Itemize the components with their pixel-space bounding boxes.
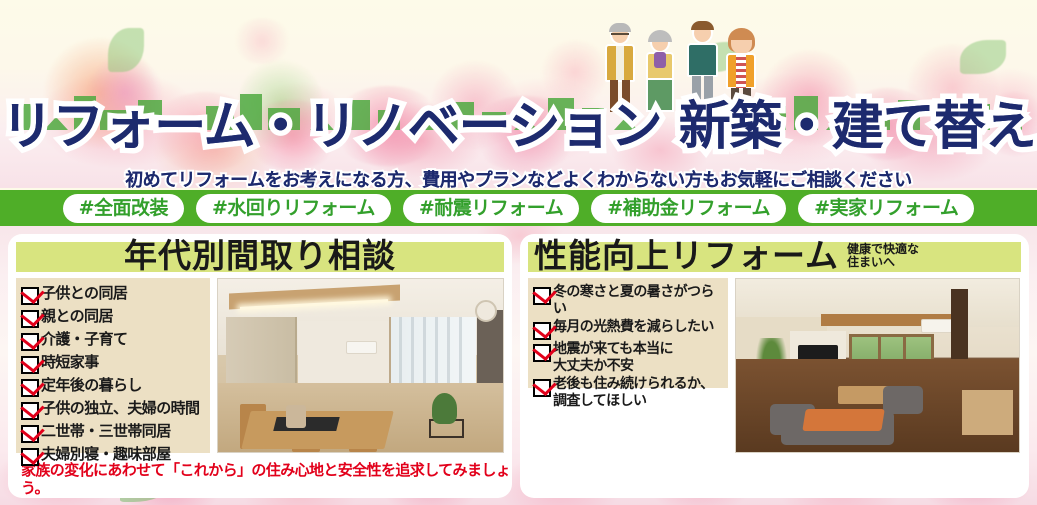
right-heading-text: 性能向上リフォーム [534, 238, 839, 274]
checkbox-checked-icon [21, 287, 39, 305]
checklist-item[interactable]: 介護・子育て [21, 330, 204, 351]
checklist-item[interactable]: 定年後の暮らし [21, 376, 204, 397]
checkbox-checked-icon [533, 344, 551, 362]
checkbox-checked-icon [533, 379, 551, 397]
checklist-item[interactable]: 時短家事 [21, 353, 204, 374]
hashtag-bar: #全面改装 #水回りリフォーム #耐震リフォーム #補助金リフォーム #実家リフ… [0, 190, 1037, 226]
checkbox-checked-icon [21, 379, 39, 397]
checkbox-checked-icon [533, 287, 551, 305]
checklist-item[interactable]: 子供との同居 [21, 284, 204, 305]
main-title-halo: リフォーム・リノベーション 新築・建て替え [0, 96, 1037, 158]
panel-performance-reform: 性能向上リフォーム 健康で快適な 住まいへ 冬の寒さと夏の暑さがつらい 毎月の光… [520, 234, 1029, 498]
left-heading-text: 年代別間取り相談 [124, 238, 396, 274]
checklist-item[interactable]: 毎月の光熱費を減らしたい [533, 319, 722, 340]
checklist-item-label: 定年後の暮らし [41, 376, 142, 394]
checklist-item-label: 子供の独立、夫婦の時間 [41, 399, 199, 417]
right-heading-sub: 健康で快適な 住まいへ [847, 243, 919, 269]
checklist-item-label: 子供との同居 [41, 284, 127, 302]
renovation-banner: リフォーム・リノベーション 新築・建て替え リフォーム・リノベーション 新築・建… [0, 0, 1037, 505]
tag-zenmen-kaiso[interactable]: #全面改装 [63, 194, 184, 223]
checkbox-checked-icon [21, 448, 39, 466]
hero-subtitle: 初めてリフォームをお考えになる方、費用やプランなどよくわからない方もお気軽にご相… [0, 166, 1037, 188]
checklist-item-label: 時短家事 [41, 353, 99, 371]
right-interior-photo [735, 278, 1020, 453]
checklist-item-label: 二世帯・三世帯同居 [41, 422, 171, 440]
checklist-item[interactable]: 老後も住み続けられるか、 調査してほしい [533, 376, 722, 410]
checklist-item-label: 老後も住み続けられるか、 [553, 376, 714, 393]
checklist-item-label: 親との同居 [41, 307, 113, 325]
hero-subtitle-stroke: 初めてリフォームをお考えになる方、費用やプランなどよくわからない方もお気軽にご相… [125, 166, 912, 188]
checklist-item-label: 毎月の光熱費を減らしたい [553, 319, 714, 336]
checklist-item[interactable]: 二世帯・三世帯同居 [21, 422, 204, 443]
hero-background: リフォーム・リノベーション 新築・建て替え リフォーム・リノベーション 新築・建… [0, 0, 1037, 188]
tag-jikka-reform[interactable]: #実家リフォーム [798, 194, 974, 223]
checkbox-checked-icon [21, 356, 39, 374]
tag-taishin-reform[interactable]: #耐震リフォーム [403, 194, 579, 223]
checkbox-checked-icon [533, 322, 551, 340]
checkbox-checked-icon [21, 425, 39, 443]
left-checklist: 子供との同居 親との同居 介護・子育て 時短家事 定年後の暮らし [16, 278, 210, 453]
checklist-item[interactable]: 親との同居 [21, 307, 204, 328]
tag-mizumawari-reform[interactable]: #水回りリフォーム [196, 194, 391, 223]
panel-age-based-floorplan: 年代別間取り相談 子供との同居 親との同居 介護・子育て [8, 234, 512, 498]
right-checklist: 冬の寒さと夏の暑さがつらい 毎月の光熱費を減らしたい 地震が来ても本当に 大丈夫… [528, 278, 728, 388]
left-panel-heading: 年代別間取り相談 [8, 234, 512, 278]
main-title: リフォーム・リノベーション 新築・建て替え リフォーム・リノベーション 新築・建… [0, 96, 1037, 160]
right-heading-sub-line2: 住まいへ [847, 256, 919, 269]
checklist-item-label-line2: 大丈夫か不安 [553, 358, 673, 375]
checklist-item-label: 介護・子育て [41, 330, 127, 348]
right-panel-heading: 性能向上リフォーム 健康で快適な 住まいへ [520, 234, 1029, 278]
checklist-item-label: 冬の寒さと夏の暑さがつらい [553, 284, 722, 318]
checklist-item[interactable]: 子供の独立、夫婦の時間 [21, 399, 204, 420]
checklist-item-label: 地震が来ても本当に [553, 341, 673, 358]
checklist-item-label-line2: 調査してほしい [553, 393, 714, 410]
checklist-item[interactable]: 地震が来ても本当に 大丈夫か不安 [533, 341, 722, 375]
checkbox-checked-icon [21, 310, 39, 328]
checkbox-checked-icon [21, 402, 39, 420]
checkbox-checked-icon [21, 333, 39, 351]
left-interior-photo [217, 278, 504, 453]
checklist-item[interactable]: 冬の寒さと夏の暑さがつらい [533, 284, 722, 318]
tag-hojokin-reform[interactable]: #補助金リフォーム [591, 194, 786, 223]
